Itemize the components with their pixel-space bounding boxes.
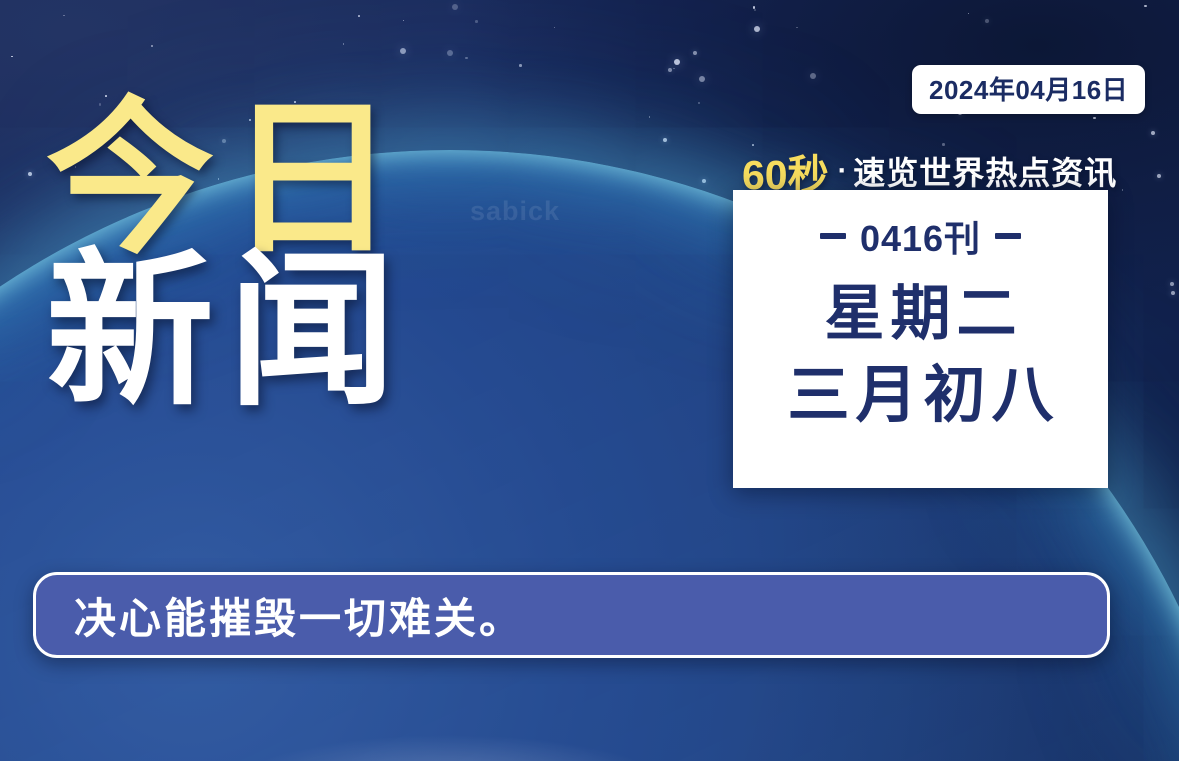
issue-number-row: 0416刊	[820, 210, 1021, 262]
date-badge: 2024年04月16日	[912, 65, 1145, 114]
poster-title: 今日 新闻	[46, 96, 516, 415]
issue-dash-right-icon	[995, 233, 1021, 239]
news-poster: sabick 今日 新闻 2024年04月16日 60秒·速览世界热点资讯 04…	[0, 0, 1179, 761]
tagline-separator-dot: ·	[838, 155, 848, 187]
quote-bar: 决心能摧毁一切难关。	[33, 572, 1110, 658]
issue-dash-left-icon	[820, 233, 846, 239]
page-title-line-news: 新闻	[46, 248, 516, 414]
date-card: 0416刊 星期二 三月初八	[733, 190, 1108, 488]
quote-text: 决心能摧毁一切难关。	[74, 585, 524, 646]
issue-number: 0416刊	[860, 210, 981, 262]
lunar-date-label: 三月初八	[781, 363, 1059, 428]
weekday-label: 星期二	[819, 282, 1023, 345]
tagline-description: 速览世界热点资讯	[853, 155, 1117, 191]
